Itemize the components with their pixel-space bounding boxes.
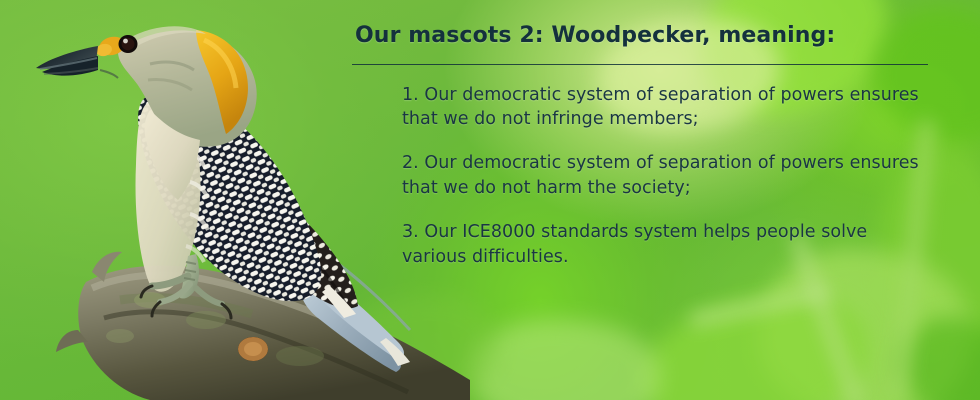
mascot-meaning-list: 1. Our democratic system of separation o… [352,83,932,270]
banner-heading: Our mascots 2: Woodpecker, meaning: [352,22,932,50]
list-item: 1. Our democratic system of separation o… [402,83,932,133]
list-item: 3. Our ICE8000 standards system helps pe… [402,220,932,270]
list-item: 2. Our democratic system of separation o… [402,151,932,201]
heading-divider [352,64,928,65]
banner-text-panel: Our mascots 2: Woodpecker, meaning: 1. O… [352,22,932,270]
mascot-banner: Our mascots 2: Woodpecker, meaning: 1. O… [0,0,980,400]
